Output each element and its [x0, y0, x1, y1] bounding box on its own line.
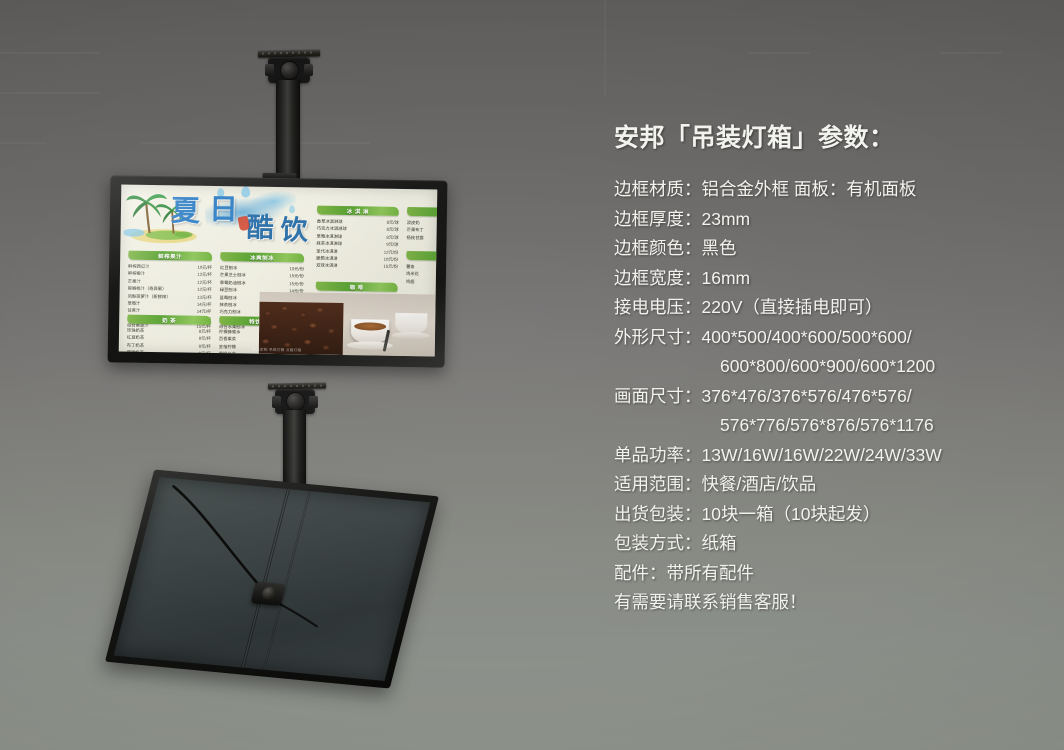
back-panel-hinge — [251, 581, 286, 605]
spec-row: 600*800/600*900/600*1200 — [614, 352, 1042, 382]
power-cable — [114, 477, 431, 681]
section-items: 薯条8元/份鸡米花10元/份鸡翅12元/份 — [406, 263, 438, 286]
menu-item-name: 薯条 — [406, 263, 415, 271]
coffee-cup-secondary — [395, 313, 427, 335]
menu-item-name: 蜜桃乌龙 — [219, 350, 236, 356]
hero-char-1: 夏 — [171, 197, 200, 226]
section-items: 香草冰淇淋球8元/球巧克力冰淇淋球8元/球草莓冰淇淋球8元/球抹茶冰淇淋球9元/… — [316, 218, 399, 271]
spec-text-block: 安邦「吊装灯箱」参数： 边框材质：铝合金外框 面板：有机面板边框厚度：23mm边… — [612, 126, 1042, 618]
menu-section: 冰 淇 淋 香草冰淇淋球8元/球巧克力冰淇淋球8元/球草莓冰淇淋球8元/球抹茶冰… — [316, 206, 399, 271]
menu-section: 小 吃 薯条8元/份鸡米花10元/份鸡翅12元/份 — [406, 251, 438, 286]
menu-item: 杨枝甘露16元/份 — [406, 234, 437, 243]
spec-row: 配件：带所有配件 — [614, 559, 1042, 589]
section-title: 鲜榨果汁 — [158, 252, 182, 260]
spec-row: 边框颜色：黑色 — [614, 234, 1042, 264]
hero-char-4: 饮 — [280, 217, 307, 244]
product-assembly: 夏 日 酷 饮 鲜榨果汁 鲜榨西瓜汁10元/杯鲜榨橙汁12元/杯芒果汁12元/杯… — [0, 0, 600, 750]
ceiling-seam — [604, 0, 606, 96]
product-photo-canvas: 夏 日 酷 饮 鲜榨果汁 鲜榨西瓜汁10元/杯鲜榨橙汁12元/杯芒果汁12元/杯… — [0, 0, 1064, 750]
spec-rows: 边框材质：铝合金外框 面板：有机面板边框厚度：23mm边框颜色：黑色边框宽度：1… — [612, 175, 1042, 618]
hero-char-3: 酷 — [246, 215, 273, 242]
spec-row: 有需要请联系销售客服！ — [614, 588, 1042, 618]
section-items: 珍珠奶茶8元/杯红豆奶茶9元/杯布丁奶茶9元/杯椰果奶茶9元/杯烧仙草奶茶12元… — [127, 327, 212, 357]
spec-row: 外形尺寸：400*500/400*600/500*600/ — [614, 323, 1042, 353]
menu-item: 双球冰淇淋15元/份 — [316, 262, 398, 271]
aluminum-frame: 夏 日 酷 饮 鲜榨果汁 鲜榨西瓜汁10元/杯鲜榨橙汁12元/杯芒果汁12元/杯… — [108, 175, 448, 367]
spec-row: 边框宽度：16mm — [614, 264, 1042, 294]
coffee-photo — [259, 292, 436, 357]
coffee-cup-primary — [351, 319, 389, 344]
menu-item: 椰果奶茶9元/杯 — [127, 349, 211, 357]
spec-row: 单品功率：13W/16W/16W/22W/24W/33W — [614, 441, 1042, 471]
spec-row: 接电电压：220V（直接插电即可） — [614, 293, 1042, 323]
menu-item-name: 鸡翅 — [406, 278, 415, 286]
section-title: 咖 啡 — [350, 283, 364, 291]
spec-row: 画面尺寸：376*476/376*576/476*576/ — [614, 382, 1042, 412]
section-title: 冰爽刨冰 — [250, 253, 274, 261]
menu-item: 鸡翅12元/份 — [406, 278, 438, 287]
back-panel-surface — [114, 477, 431, 681]
back-panel — [105, 469, 439, 688]
light-box-display: 夏 日 酷 饮 鲜榨果汁 鲜榨西瓜汁10元/杯鲜榨橙汁12元/杯芒果汁12元/杯… — [108, 175, 448, 367]
upper-mount-pole — [276, 80, 300, 186]
spec-row: 适用范围：快餐/酒店/饮品 — [614, 470, 1042, 500]
menu-face: 夏 日 酷 饮 鲜榨果汁 鲜榨西瓜汁10元/杯鲜榨橙汁12元/杯芒果汁12元/杯… — [119, 185, 438, 357]
ceiling-seam — [748, 52, 810, 54]
spec-title: 安邦「吊装灯箱」参数： — [614, 126, 1042, 151]
section-items: 双皮奶10元/份芒果布丁10元/份杨枝甘露16元/份 — [406, 219, 437, 242]
menu-item-name: 杨枝甘露 — [406, 234, 423, 242]
menu-item-price: 9元/杯 — [194, 350, 210, 357]
ceiling-seam — [940, 52, 1002, 54]
hero-char-2: 日 — [209, 196, 238, 225]
menu-watermark: 专业定制 吊装灯箱 点餐灯箱 — [252, 348, 301, 354]
menu-section: 甜 品 双皮奶10元/份芒果布丁10元/份杨枝甘露16元/份 — [406, 207, 437, 242]
menu-section: 奶 茶 珍珠奶茶8元/杯红豆奶茶9元/杯布丁奶茶9元/杯椰果奶茶9元/杯烧仙草奶… — [127, 315, 212, 357]
spec-row: 576*776/576*876/576*1176 — [614, 411, 1042, 441]
menu-artwork: 夏 日 酷 饮 鲜榨果汁 鲜榨西瓜汁10元/杯鲜榨橙汁12元/杯芒果汁12元/杯… — [119, 185, 438, 357]
section-title: 冰 淇 淋 — [347, 207, 369, 215]
spec-row: 边框材质：铝合金外框 面板：有机面板 — [614, 175, 1042, 205]
spec-row: 边框厚度：23mm — [614, 205, 1042, 235]
back-panel-frame — [105, 469, 439, 688]
spec-row: 出货包装：10块一箱（10块起发） — [614, 500, 1042, 530]
menu-item-price: 15元/份 — [379, 263, 398, 271]
section-title: 奶 茶 — [162, 316, 176, 324]
menu-item-name: 椰果奶茶 — [127, 349, 144, 357]
menu-item-name: 双球冰淇淋 — [316, 262, 338, 270]
spec-row: 包装方式：纸箱 — [614, 529, 1042, 559]
